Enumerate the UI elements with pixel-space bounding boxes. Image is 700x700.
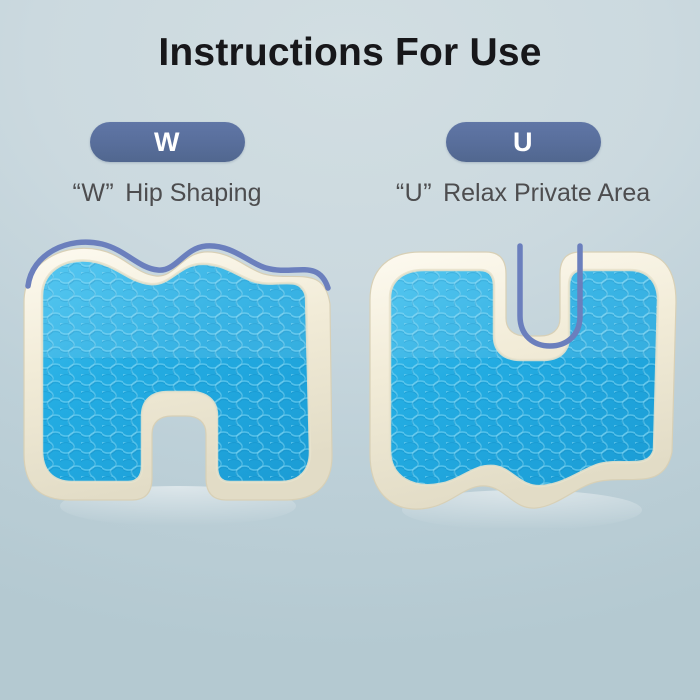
badge-w-letter: W — [154, 129, 180, 156]
page-title: Instructions For Use — [0, 31, 700, 75]
caption-u-quoted: “U” — [396, 179, 432, 207]
caption-w-text: Hip Shaping — [125, 179, 261, 207]
caption-u: “U”Relax Private Area — [348, 179, 698, 208]
section-u: U “U”Relax Private Area — [348, 122, 698, 208]
badge-w: W — [90, 122, 245, 162]
badge-u: U — [446, 122, 601, 162]
badge-u-letter: U — [513, 129, 533, 156]
caption-u-text: Relax Private Area — [443, 179, 650, 207]
instructions-graphic: Instructions For Use W “W”Hip Shaping — [0, 0, 700, 700]
caption-w: “W”Hip Shaping — [0, 179, 342, 208]
section-w: W “W”Hip Shaping — [0, 122, 342, 208]
u-shape-cushion — [362, 238, 682, 528]
w-shape-cushion — [18, 238, 338, 528]
caption-w-quoted: “W” — [73, 179, 115, 207]
